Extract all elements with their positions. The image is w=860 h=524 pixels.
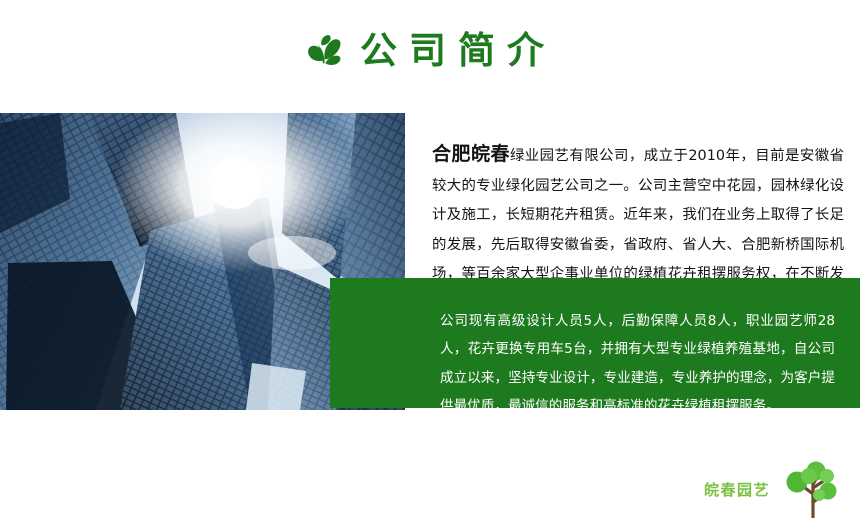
- company-name-lead: 合肥皖春: [432, 143, 510, 165]
- tree-logo-icon: [780, 460, 842, 518]
- brand-logo: 皖春园艺: [704, 460, 842, 518]
- highlight-paragraph: 公司现有高级设计人员5人，后勤保障人员8人，职业园艺师28人，花卉更换专用车5台…: [440, 307, 835, 421]
- page-title: 公司简介: [0, 22, 860, 78]
- slide-canvas: 公司简介: [0, 0, 860, 524]
- brand-name: 皖春园艺: [704, 479, 770, 500]
- page-title-text: 公司简介: [360, 32, 556, 69]
- sprout-leaf-icon: [304, 28, 344, 72]
